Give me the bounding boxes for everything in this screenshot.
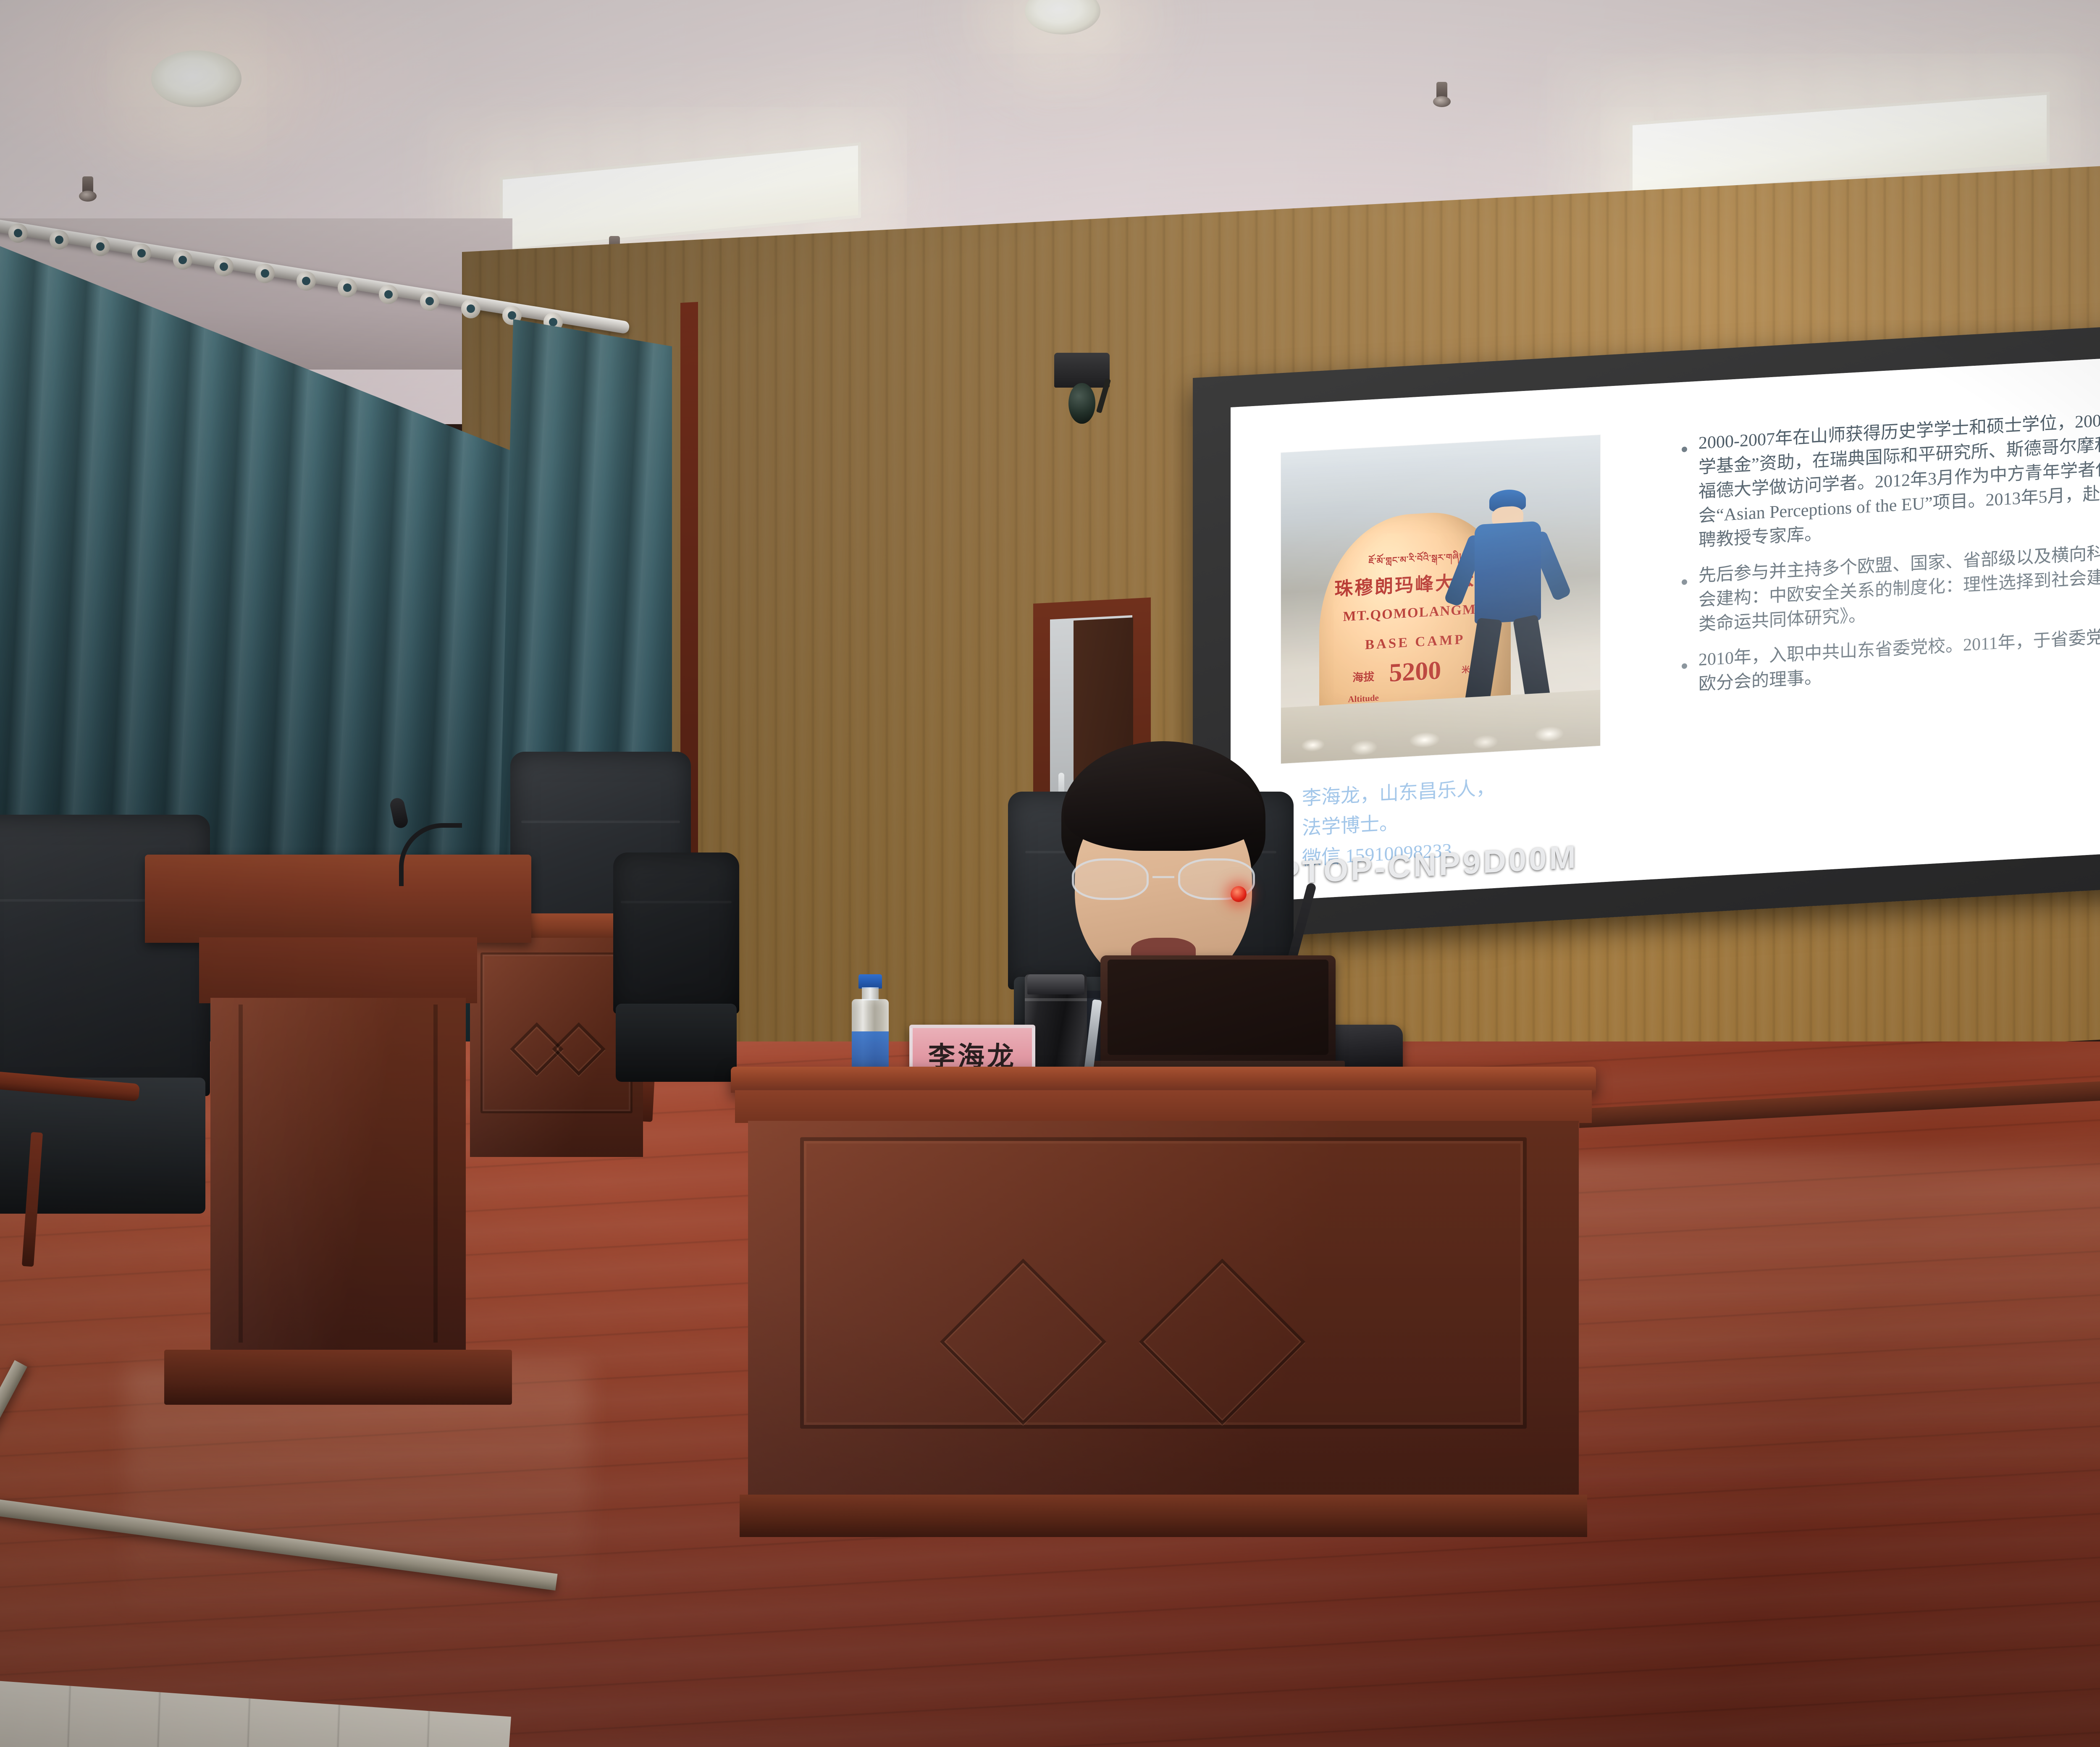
slide-bullet-list: 2000-2007年在山师获得历史学学士和硕士学位，2007年考入山东大学攻读博… (1676, 365, 2100, 709)
slide-photo: ཇོ་མོ་གླང་མ་རི་བོའི་སྒར་གཞི། 珠穆朗玛峰大本营 MT… (1281, 435, 1600, 763)
speaker-podium[interactable] (145, 855, 531, 1405)
podium-top (145, 855, 531, 943)
microphone-status-led (1231, 886, 1247, 902)
glasses-lens-left (1072, 858, 1149, 900)
armchair-seat (616, 1004, 737, 1082)
climber-person (1466, 488, 1549, 728)
podium-neck (199, 937, 477, 1003)
podium-base (164, 1350, 512, 1405)
wall-camera (1054, 353, 1110, 428)
camera-lens-icon (1068, 383, 1095, 424)
curtain-grommet (297, 271, 316, 291)
curtain-grommet (132, 244, 151, 263)
curtain-grommet (91, 237, 110, 256)
bottle-neck (862, 987, 879, 1000)
podium-body (210, 998, 465, 1350)
sprinkler-head-3 (1436, 82, 1447, 106)
desk-top (731, 1067, 1596, 1093)
projection-screen[interactable]: ཇོ་མོ་གླང་མ་རི་བོའི་སྒར་གཞི། 珠穆朗玛峰大本营 MT… (1231, 330, 2100, 903)
slide-bullet-text: 2000-2007年在山师获得历史学学士和硕士学位，2007年考入山东大学攻读博… (1698, 365, 2100, 553)
curtain-grommet (173, 250, 192, 270)
curtain-grommet (8, 223, 28, 243)
curtain-grommet (420, 291, 439, 311)
curtain-grommet (255, 264, 275, 283)
sprinkler-head-1 (82, 176, 93, 201)
lecture-hall-photo: ཇོ་མོ་གླང་མ་རི་བོའི་སྒར་གཞི། 珠穆朗玛峰大本营 MT… (0, 0, 2100, 1747)
presenter-hair-fringe (1064, 768, 1263, 851)
curtain-grommet (50, 230, 69, 249)
laptop-lid (1100, 955, 1336, 1063)
desk-apron (735, 1090, 1591, 1123)
thermos-lid (1027, 974, 1084, 994)
curtain-grommet (214, 257, 234, 276)
slide-bullet-item: 2000-2007年在山师获得历史学学士和硕士学位，2007年考入山东大学攻读博… (1676, 365, 2100, 555)
camera-body (1054, 353, 1110, 388)
curtain-grommet (338, 278, 357, 297)
armchair-right-rear[interactable] (613, 853, 739, 1113)
presenter-desk[interactable] (731, 1067, 1596, 1537)
curtain-grommet (461, 299, 480, 318)
thermos-ring (1025, 998, 1087, 1001)
presentation-slide: ཇོ་མོ་གླང་མ་རི་བོའི་སྒར་གཞི། 珠穆朗玛峰大本营 MT… (1231, 330, 2100, 903)
climber-torso (1475, 521, 1541, 624)
presenter-glasses (1072, 858, 1255, 900)
curtain-grommet (379, 285, 398, 304)
ceiling-downlight-1 (151, 50, 241, 107)
desk-inner-panel (800, 1137, 1527, 1429)
armchair-backrest (613, 853, 739, 1014)
bottle-cap (858, 974, 882, 989)
glasses-bridge (1152, 876, 1174, 878)
desk-plinth (740, 1495, 1588, 1537)
